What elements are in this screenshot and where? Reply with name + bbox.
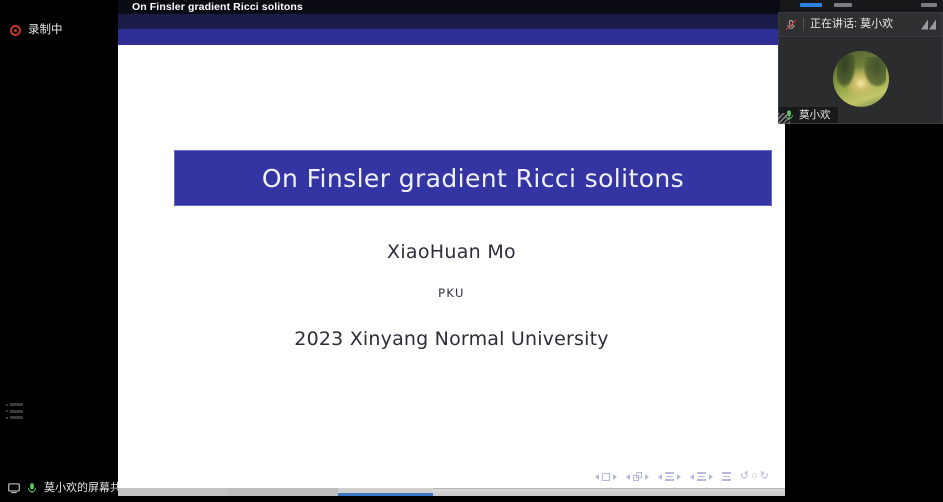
slide-title-box: On Finsler gradient Ricci solitons [174,150,772,206]
microphone-icon [26,482,38,494]
video-stage[interactable]: 莫小欢 [779,37,942,123]
beamer-header-bar-blue [118,29,785,45]
prev-arrow-icon[interactable] [690,474,694,480]
slide-content: On Finsler gradient Ricci solitons XiaoH… [118,45,785,488]
participant-avatar [833,51,889,107]
outline-list-icon[interactable] [6,403,23,419]
beamer-history-nav[interactable]: ↺ ○ ↻ [740,471,769,482]
taskbar-item-2[interactable] [228,488,338,496]
chrome-tab[interactable] [834,3,852,7]
microphone-muted-icon[interactable] [785,19,797,31]
taskbar-item-1[interactable] [118,488,228,496]
next-arrow-icon[interactable] [613,474,617,480]
outline-row [6,403,23,406]
window-minimize-icon[interactable] [921,3,937,7]
chrome-tab-active[interactable] [800,3,822,7]
screen-share-status: 莫小欢的屏幕共享 [8,482,132,494]
next-arrow-icon[interactable] [645,474,649,480]
prev-arrow-icon[interactable] [595,474,599,480]
beamer-section-nav[interactable] [690,472,713,481]
network-signal-icon [921,20,936,30]
speaking-label: 正在讲话: 莫小欢 [810,19,893,30]
beamer-presentation-nav[interactable] [722,472,731,481]
redo-arrow-icon[interactable]: ↻ [760,471,769,482]
stacked-squares-icon[interactable] [633,472,642,481]
participant-name: 莫小欢 [799,110,831,121]
recording-label: 录制中 [28,25,63,37]
slide-affiliation: PKU [118,286,785,300]
undo-arrow-icon[interactable]: ↺ [740,471,749,482]
square-icon[interactable] [602,473,610,481]
slide-venue: 2023 Xinyang Normal University [118,328,785,350]
next-arrow-icon[interactable] [709,474,713,480]
slide-author: XiaoHuan Mo [118,241,785,263]
lines-icon[interactable] [697,472,706,481]
screen-share-icon [8,482,20,494]
record-dot-icon [10,25,21,36]
taskbar-item-active[interactable] [338,488,433,496]
magnifier-icon[interactable]: ○ [751,471,758,482]
beamer-subsection-nav[interactable] [658,472,681,481]
beamer-frame-nav[interactable] [626,472,649,481]
os-taskbar[interactable] [118,488,785,496]
panel-resize-handle[interactable] [778,113,790,124]
lines-icon[interactable] [722,472,731,481]
recording-indicator: 录制中 [10,25,63,37]
shared-pdf-window: On Finsler gradient Ricci solitons On Fi… [118,0,785,496]
outline-row [6,416,23,419]
beamer-slide-nav[interactable] [595,473,617,481]
prev-arrow-icon[interactable] [626,474,630,480]
zoom-meeting-screen: 录制中 莫小欢的屏幕共享 On Finsler gradient Ricci s… [0,0,943,502]
beamer-header-bar-dark [118,14,785,29]
speaking-status-bar: 正在讲话: 莫小欢 [779,13,942,37]
pdf-window-title: On Finsler gradient Ricci solitons [118,0,785,14]
divider [803,18,804,31]
lines-icon[interactable] [665,472,674,481]
beamer-navigation-bar[interactable]: ↺ ○ ↻ [595,471,769,482]
slide-title: On Finsler gradient Ricci solitons [262,164,684,193]
prev-arrow-icon[interactable] [658,474,662,480]
participant-video-panel[interactable]: 正在讲话: 莫小欢 莫小欢 [778,12,943,124]
next-arrow-icon[interactable] [677,474,681,480]
outline-row [6,410,23,413]
